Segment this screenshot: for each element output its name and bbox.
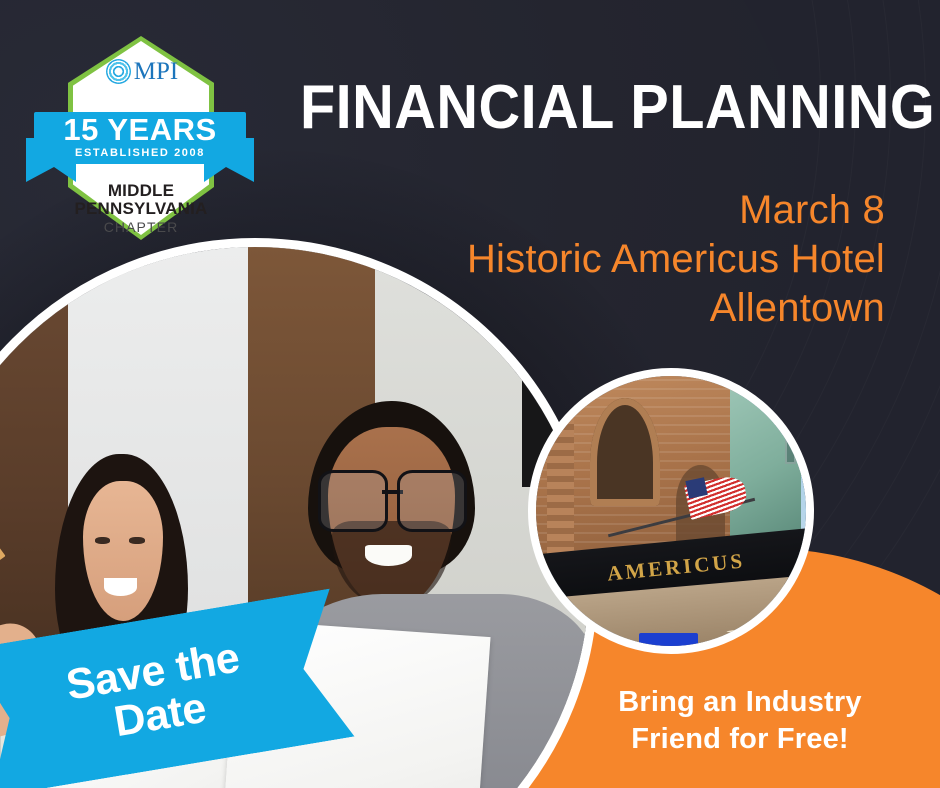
americus-hotel-image: AMERICUS: [536, 376, 806, 646]
badge-chapter-name: MIDDLE PENNSYLVANIA CHAPTER: [70, 182, 212, 236]
page-title: FINANCIAL PLANNING: [300, 78, 858, 139]
mpi-swirl-icon: [106, 59, 131, 84]
event-flyer: FINANCIAL PLANNING March 8 Historic Amer…: [0, 0, 940, 788]
badge-established-text: ESTABLISHED 2008: [26, 147, 254, 159]
cta-line-1: Bring an Industry: [540, 684, 940, 721]
mpi-logo-text: MPI: [134, 59, 178, 84]
mpi-logo: MPI: [88, 56, 196, 86]
event-date: March 8: [325, 186, 885, 235]
chapter-line-2: PENNSYLVANIA: [70, 200, 212, 218]
cta-text: Bring an Industry Friend for Free!: [540, 684, 940, 758]
mpi-chapter-badge: MPI 15 YEARS ESTABLISHED 2008 MIDDLE PEN…: [26, 34, 254, 246]
chapter-line-1: MIDDLE: [70, 182, 212, 200]
cta-line-2: Friend for Free!: [540, 721, 940, 758]
badge-years-text: 15 YEARS: [26, 114, 254, 145]
chapter-line-3: CHAPTER: [70, 218, 212, 236]
americus-hotel-photo: AMERICUS: [528, 368, 814, 654]
